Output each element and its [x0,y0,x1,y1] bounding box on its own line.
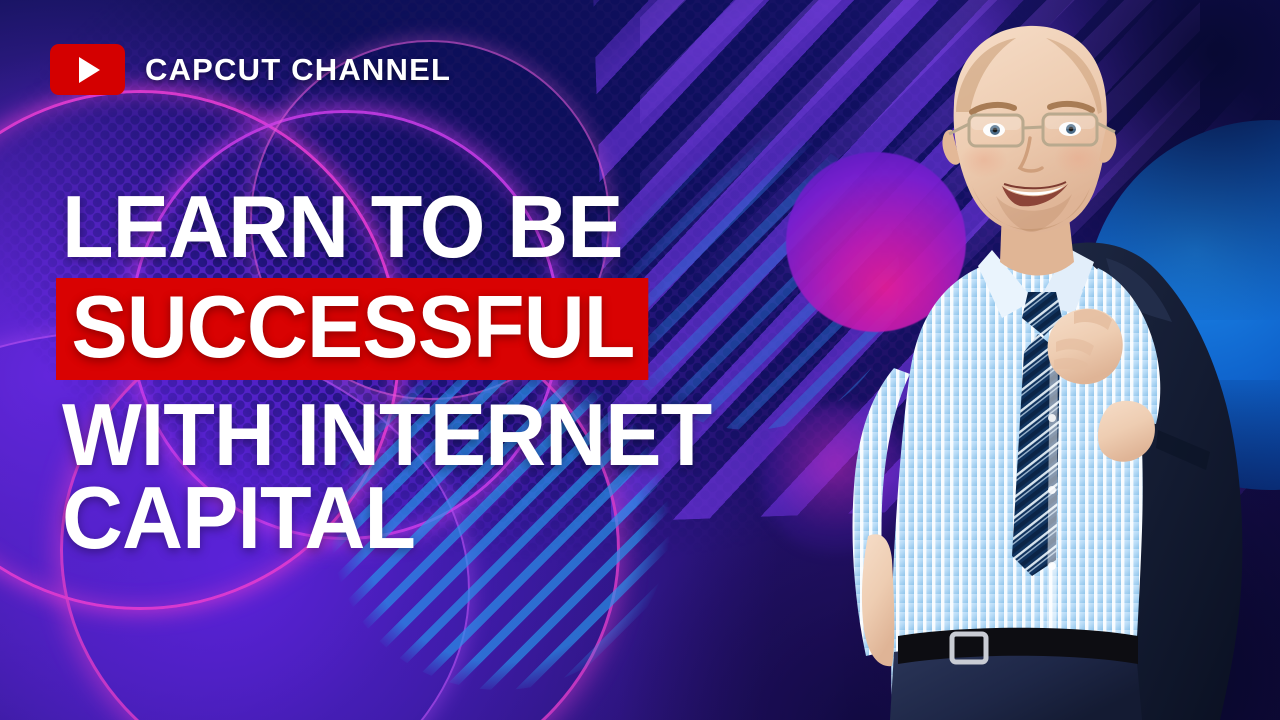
headline-line-1: LEARN TO BE [62,186,711,268]
headline-block: LEARN TO BE SUCCESSFUL WITH INTERNET CAP… [56,186,738,559]
headline-line-3: WITH INTERNET [62,394,711,476]
headline-line-2-highlight: SUCCESSFUL [56,278,648,380]
person-photo [806,0,1280,720]
channel-badge[interactable]: CAPCUT CHANNEL [50,44,451,95]
play-triangle-icon [79,57,100,83]
headline-line-4: CAPITAL [62,477,711,559]
channel-name: CAPCUT CHANNEL [145,52,451,88]
youtube-play-icon[interactable] [50,44,125,95]
youtube-thumbnail: CAPCUT CHANNEL LEARN TO BE SUCCESSFUL WI… [0,0,1280,720]
